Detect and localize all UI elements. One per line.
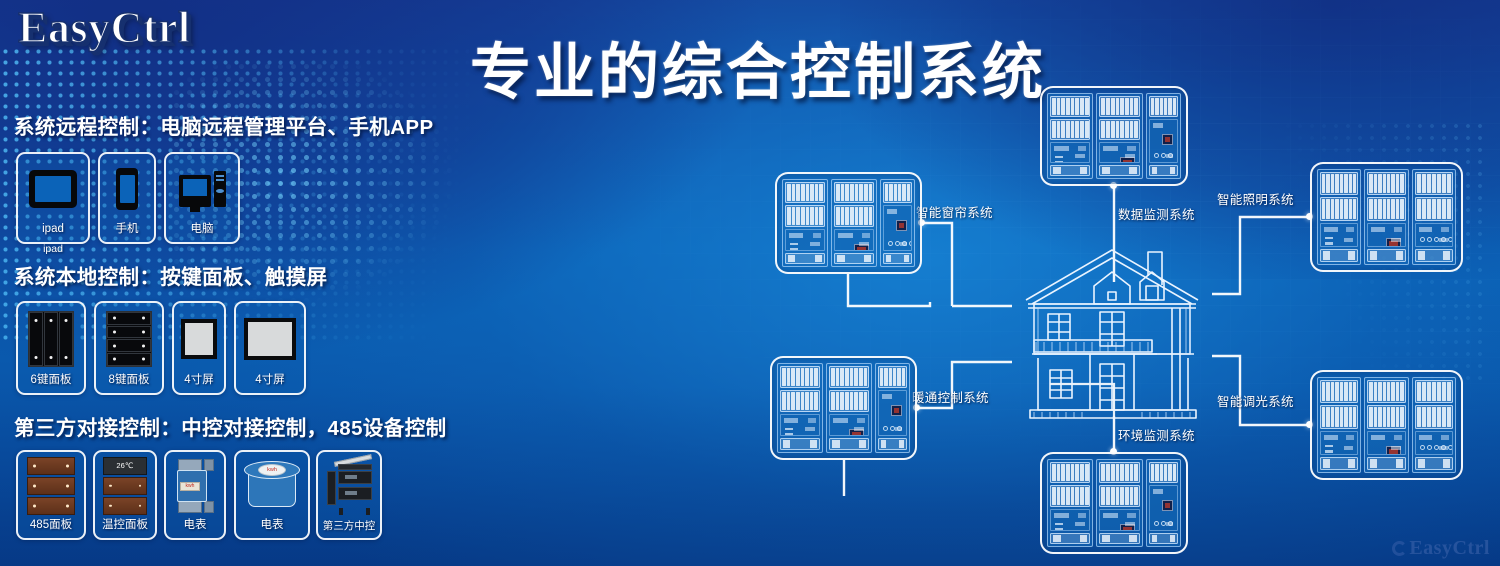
node-label-environment: 环境监测系统 (1118, 425, 1195, 444)
watermark-ring-icon (1392, 541, 1407, 556)
dimming-controller-module[interactable] (1310, 370, 1463, 480)
rs485-panel-icon (18, 452, 84, 520)
watermark-text: EasyCtrl (1409, 537, 1490, 560)
device-card-third-party-controller[interactable]: 第三方中控 (316, 450, 382, 540)
device-card-label: 电表 (261, 520, 284, 539)
node-label-hvac: 暖通控制系统 (912, 387, 989, 406)
water-meter-icon: kwh (166, 452, 224, 520)
device-card-label: 485面板 (30, 520, 72, 539)
device-card-eight-key-panel[interactable]: 8键面板 (94, 301, 164, 395)
four-inch-screen-wide-icon (236, 303, 304, 375)
section-heading-local-control: 系统本地控制：按键面板、触摸屏 (14, 260, 328, 290)
meter-display-label: kwh (258, 464, 286, 476)
device-card-ipad[interactable]: ipad (16, 152, 90, 244)
device-card-rs485-panel[interactable]: 485面板 (16, 450, 86, 540)
device-card-phone[interactable]: 手机 (98, 152, 156, 244)
node-label-data-monitor: 数据监测系统 (1118, 204, 1195, 223)
meter-display-label: kwh (180, 482, 200, 491)
tablet-icon (18, 154, 88, 224)
device-card-label: 第三方中控 (323, 521, 376, 539)
device-card-four-inch-screen[interactable]: 4寸屏 (172, 301, 226, 395)
system-topology-diagram: 智能窗帘系统 数据监测系统 智能照明系统 暖通控制系统 环境监测系统 智能调光系… (740, 44, 1500, 566)
round-meter-icon: kwh (236, 452, 308, 520)
data-monitor-module[interactable] (1040, 86, 1188, 186)
hvac-controller-module[interactable] (770, 356, 917, 460)
slide-canvas: EasyCtrl 专业的综合控制系统 系统远程控制：电脑远程管理平台、手机APP… (0, 0, 1500, 566)
environment-monitor-module[interactable] (1040, 452, 1188, 554)
curtain-controller-module[interactable] (775, 172, 922, 274)
device-card-six-key-panel[interactable]: 6键面板 (16, 301, 86, 395)
device-card-four-inch-screen-wide[interactable]: 4寸屏 (234, 301, 306, 395)
device-card-thermostat-panel[interactable]: 26℃ 温控面板 (93, 450, 157, 540)
six-key-panel-icon (18, 303, 84, 375)
device-card-meter-inline[interactable]: kwh 电表 (164, 450, 226, 540)
device-card-sublabel-ipad: ipad (16, 243, 90, 255)
node-label-dimming: 智能调光系统 (1217, 391, 1294, 410)
watermark-logo: EasyCtrl (1392, 537, 1490, 560)
section-heading-third-party-control: 第三方对接控制：中控对接控制，485设备控制 (14, 411, 447, 441)
node-label-lighting: 智能照明系统 (1217, 189, 1294, 208)
device-card-computer[interactable]: 电脑 (164, 152, 240, 244)
four-inch-screen-icon (174, 303, 224, 375)
device-card-label: 8键面板 (109, 375, 150, 394)
device-card-label: 温控面板 (102, 520, 148, 539)
brand-logo: EasyCtrl (18, 2, 191, 53)
lighting-controller-module[interactable] (1310, 162, 1463, 272)
smartphone-icon (100, 154, 154, 224)
eight-key-panel-icon (96, 303, 162, 375)
device-card-label: 电表 (184, 520, 207, 539)
thermostat-temperature-display: 26℃ (103, 457, 147, 475)
section-heading-remote-control: 系统远程控制：电脑远程管理平台、手机APP (14, 110, 434, 140)
node-label-curtain: 智能窗帘系统 (916, 202, 993, 221)
device-card-meter-round[interactable]: kwh 电表 (234, 450, 310, 540)
house-outline-icon (1012, 242, 1212, 422)
device-card-label: ipad (42, 224, 64, 243)
server-rack-icon (318, 452, 380, 521)
device-card-label: 4寸屏 (184, 375, 213, 394)
thermostat-panel-icon: 26℃ (95, 452, 155, 520)
device-card-label: 4寸屏 (255, 375, 284, 394)
desktop-computer-icon (166, 154, 238, 224)
device-card-label: 电脑 (191, 224, 214, 243)
device-card-label: 手机 (116, 224, 139, 243)
device-card-label: 6键面板 (31, 375, 72, 394)
